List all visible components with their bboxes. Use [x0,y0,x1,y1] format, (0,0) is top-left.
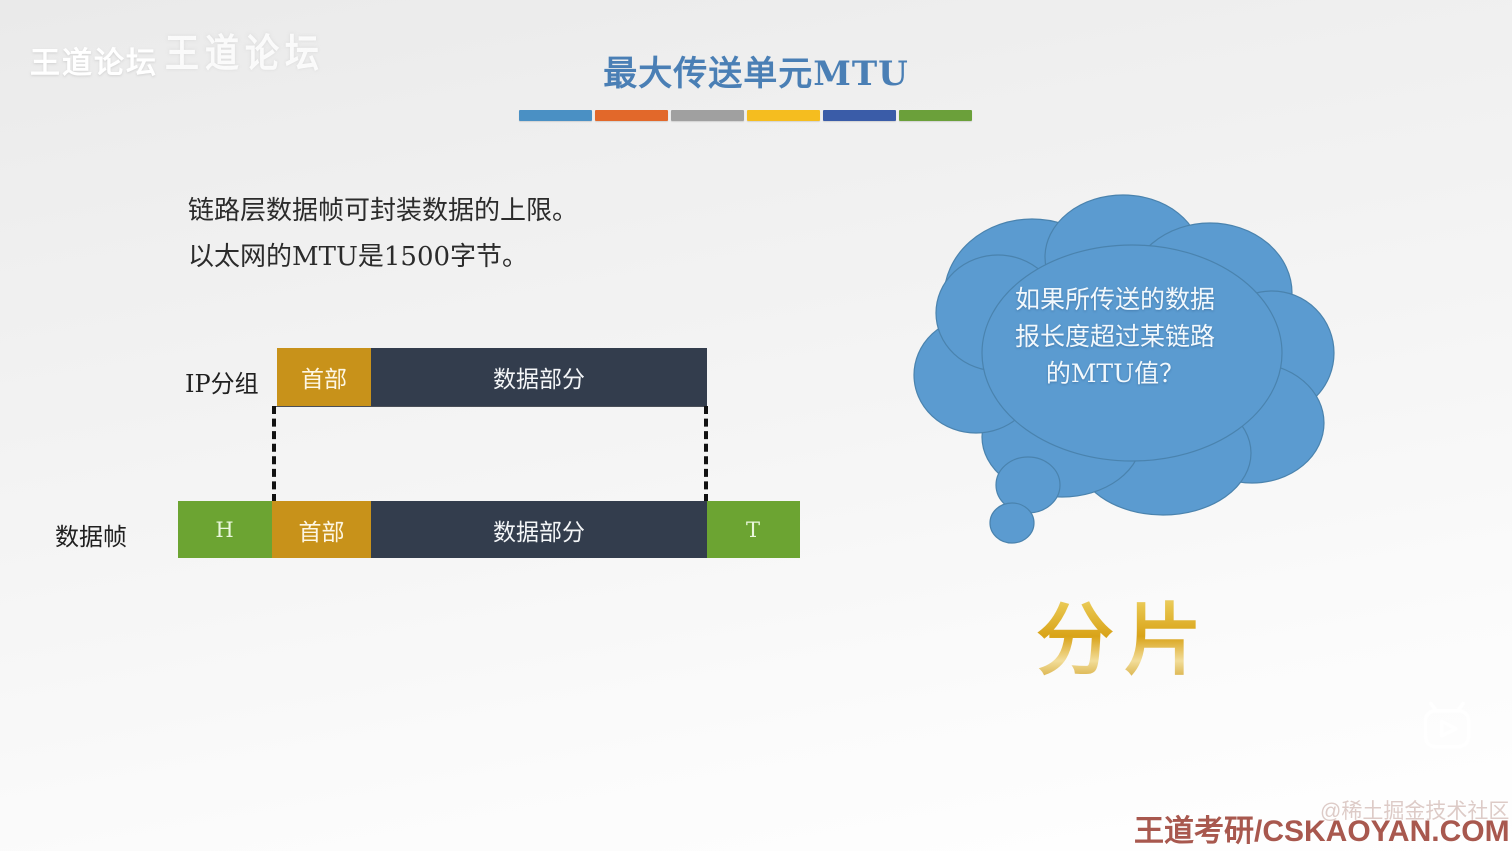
data-frame-label: 数据帧 [55,517,127,552]
connector-right-dashed [704,406,708,502]
slide-canvas: 王道论坛 王道论坛 最大传送单元MTU 链路层数据帧可封装数据的上限。 以太网的… [0,0,1512,851]
watermark-bottom-right: @稀土掘金技术社区 [1320,795,1509,825]
definition-line-1: 链路层数据帧可封装数据的上限。 [188,188,578,234]
frame-ip-data-block: 数据部分 [371,501,707,558]
connector-top-line [272,406,708,407]
ip-data-block: 数据部分 [371,348,707,406]
accent-bar-blue [519,110,592,121]
accent-bar-gray [671,110,744,121]
definition-text: 链路层数据帧可封装数据的上限。 以太网的MTU是1500字节。 [188,188,578,280]
bilibili-tv-play-icon[interactable] [1418,700,1476,752]
connector-left-dashed [272,406,276,502]
slide-title: 最大传送单元MTU [0,46,1512,95]
accent-bar-orange [595,110,668,121]
frame-head-flag-block: H [178,501,272,558]
title-accent-bars [519,110,972,121]
frame-ip-header-block: 首部 [272,501,371,558]
answer-word-fragmentation: 分片 [1036,578,1212,690]
thought-bubble: 如果所传送的数据 报长度超过某链路 的MTU值？ [880,185,1350,555]
accent-bar-navy [823,110,896,121]
frame-tail-flag-block: T [707,501,800,558]
thought-bubble-shape [880,185,1350,555]
ip-packet-label: IP分组 [185,364,259,399]
ip-header-block: 首部 [277,348,371,406]
accent-bar-yellow [747,110,820,121]
accent-bar-green [899,110,972,121]
definition-line-2: 以太网的MTU是1500字节。 [188,234,578,280]
